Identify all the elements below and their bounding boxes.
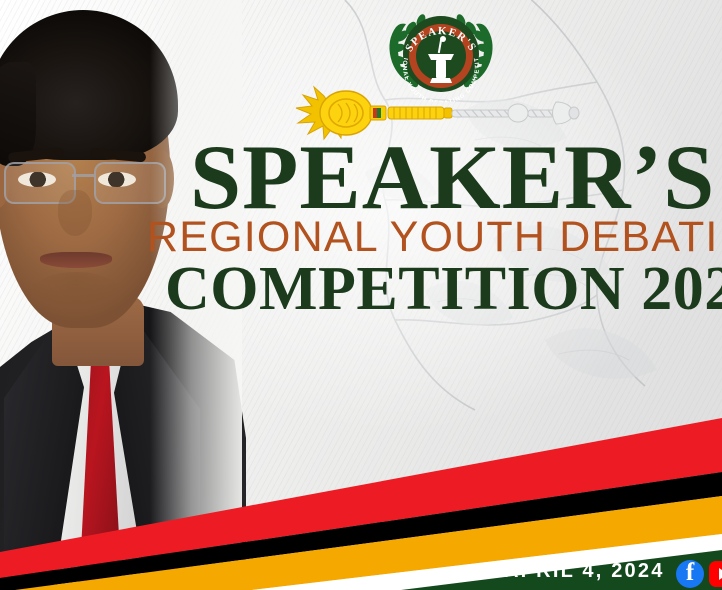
poster-canvas: SPEAKER'S NATIONAL YOUTH DEBATING COMPET… [0, 0, 722, 590]
title-line-2: REGIONAL YOUTH DEBATING [147, 216, 722, 259]
title-line-1: SPEAKER’S [190, 131, 715, 223]
title-line-3: COMPETITION 2024 [165, 258, 722, 320]
social-links[interactable] [676, 559, 722, 589]
youtube-icon[interactable] [709, 561, 722, 587]
event-date: APRIL 4, 2024 [504, 560, 665, 583]
facebook-icon[interactable] [676, 560, 704, 588]
title-block: SPEAKER’S REGIONAL YOUTH DEBATING COMPET… [0, 0, 722, 340]
